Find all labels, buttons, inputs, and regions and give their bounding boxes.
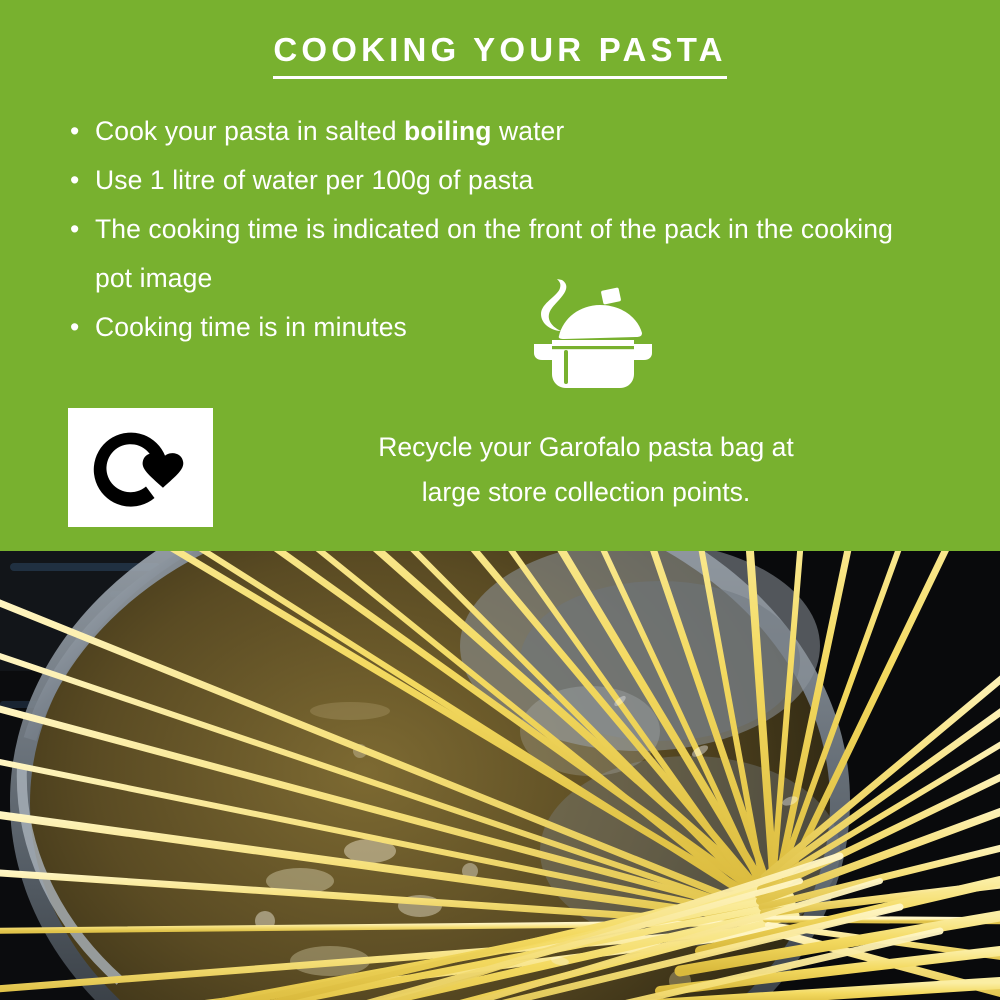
recycle-message: Recycle your Garofalo pasta bag at large… <box>236 425 936 515</box>
list-item-text-lead: Cook your pasta in salted <box>95 116 404 146</box>
bullet-point-icon: • <box>70 156 95 205</box>
instructions-list: • Cook your pasta in salted boiling wate… <box>70 107 950 352</box>
recycle-message-line-2: large store collection points. <box>236 470 936 515</box>
bullet-point-icon: • <box>70 107 95 156</box>
list-item: • Cook your pasta in salted boiling wate… <box>70 107 950 156</box>
pasta-cooking-instructions-poster: COOKING YOUR PASTA • Cook your pasta in … <box>0 0 1000 1000</box>
list-item: • Cooking time is in minutes <box>70 303 950 352</box>
list-item-text-emphasis: boiling <box>404 116 492 146</box>
recycle-heart-icon <box>68 408 213 527</box>
list-item: • The cooking time is indicated on the f… <box>70 205 950 303</box>
spaghetti-in-boiling-pot-photo <box>0 551 1000 1000</box>
list-item-text: Use 1 litre of water per 100g of pasta <box>95 156 925 205</box>
list-item: • Use 1 litre of water per 100g of pasta <box>70 156 950 205</box>
page-title-wrapper: COOKING YOUR PASTA <box>0 31 1000 79</box>
list-item-text-trail: water <box>492 116 565 146</box>
instructions-panel: COOKING YOUR PASTA • Cook your pasta in … <box>0 0 1000 551</box>
list-item-text: Cook your pasta in salted boiling water <box>95 107 925 156</box>
bullet-point-icon: • <box>70 205 95 254</box>
cooking-pot-icon <box>528 272 658 390</box>
list-item-text: Cooking time is in minutes <box>95 303 925 352</box>
bullet-point-icon: • <box>70 303 95 352</box>
list-item-text: The cooking time is indicated on the fro… <box>95 205 925 303</box>
page-title: COOKING YOUR PASTA <box>273 31 726 79</box>
recycle-message-line-1: Recycle your Garofalo pasta bag at <box>236 425 936 470</box>
